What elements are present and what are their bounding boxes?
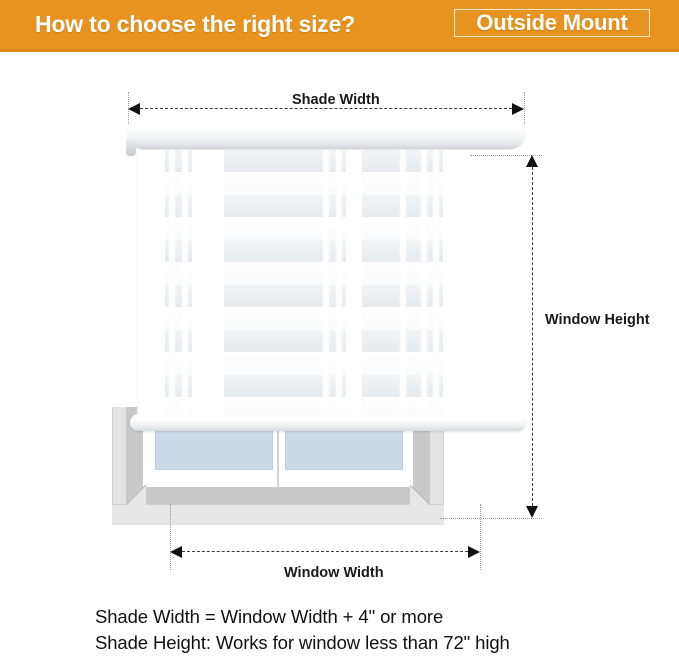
window-width-arrow-left	[170, 546, 182, 558]
shade-fold-tape	[168, 150, 176, 415]
window-width-dimension-line	[182, 551, 468, 552]
mount-type-badge-label: Outside Mount	[476, 10, 627, 36]
mount-type-badge: Outside Mount	[454, 9, 650, 37]
window-casing-miter-right	[410, 485, 430, 507]
page-title: How to choose the right size?	[35, 11, 355, 38]
shade-fold-tape	[335, 150, 343, 415]
shade-fold-tape	[443, 150, 464, 415]
window-width-extension-left	[170, 504, 171, 570]
diagram-canvas: Shade Width Window Height Window Width S…	[0, 52, 679, 660]
shade-bottom-rail-highlight	[140, 417, 516, 421]
shade-width-extension-right	[524, 92, 525, 124]
shade-width-arrow-left	[128, 103, 140, 115]
shade-left-edge	[137, 150, 138, 415]
shade-fold-tape	[137, 150, 165, 415]
shade-fabric	[137, 150, 464, 415]
footnote-shade-width: Shade Width = Window Width + 4" or more	[95, 606, 443, 628]
window-width-arrow-right	[468, 546, 480, 558]
window-height-label: Window Height	[545, 312, 650, 328]
window-height-extension-bottom	[440, 518, 542, 519]
shade-fold-tape	[399, 150, 407, 415]
footnote-shade-height: Shade Height: Works for window less than…	[95, 632, 510, 654]
shade-headrail-highlight	[136, 120, 516, 127]
window-width-extension-right	[480, 504, 481, 570]
window-height-arrow-bottom	[526, 506, 538, 518]
window-casing-miter-left	[126, 485, 146, 507]
window-sill	[112, 504, 444, 525]
shade-fold-tape	[192, 150, 224, 415]
header-bar: How to choose the right size? Outside Mo…	[0, 0, 679, 52]
window-width-label: Window Width	[284, 565, 384, 581]
shade-width-arrow-right	[512, 103, 524, 115]
shade-headrail-end-cap	[126, 140, 136, 156]
shade-fold-tape	[432, 150, 440, 415]
shade-width-label: Shade Width	[292, 92, 380, 108]
window-height-dimension-line	[532, 167, 533, 506]
shade-width-dimension-line	[140, 108, 512, 109]
window-height-arrow-top	[526, 155, 538, 167]
shade-fold-tape	[346, 150, 362, 415]
shade-fold-tape	[322, 150, 330, 415]
shade-fold-tape	[420, 150, 428, 415]
shade-fold-tape	[181, 150, 189, 415]
